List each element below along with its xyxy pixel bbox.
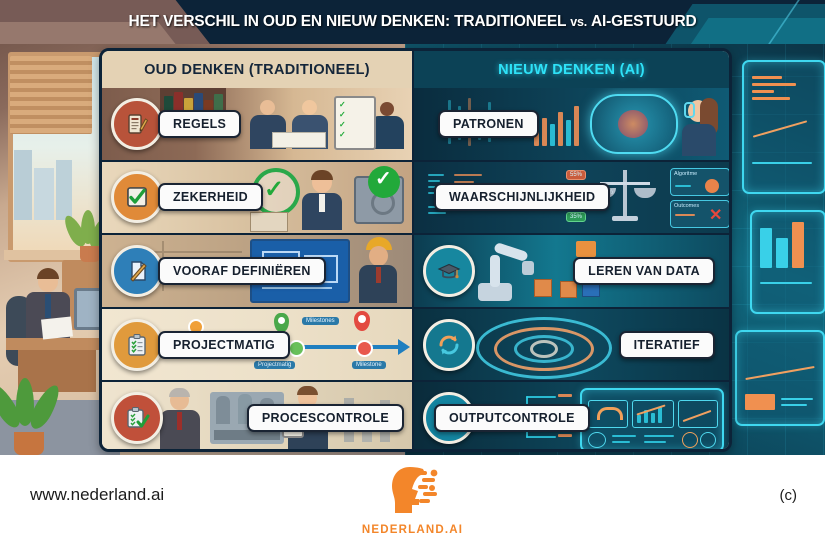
cell-new-iteratief[interactable]: ITERATIEF [414, 309, 729, 381]
table-row: ✓ ✓ ✓ ✓ REGELS [102, 88, 729, 160]
analytics-dashboard [580, 388, 724, 452]
nederland-ai-logo: NEDERLAND.AI [333, 463, 493, 536]
row-label-old-3[interactable]: VOORAF DEFINIËREN [158, 257, 326, 285]
page-title-main: HET VERSCHIL IN OUD EN NIEUW DENKEN: TRA… [129, 13, 567, 31]
green-check-badge: ✓ [368, 166, 400, 198]
tag-milestone: Milestone [352, 361, 386, 369]
row-label-old-1[interactable]: REGELS [158, 110, 241, 138]
title-band: HET VERSCHIL IN OUD EN NIEUW DENKEN: TRA… [0, 0, 825, 44]
logo-head-icon [382, 463, 444, 518]
comparison-table: OUD DENKEN (TRADITIONEEL) NIEUW DENKEN (… [99, 48, 732, 452]
table-body: ✓ ✓ ✓ ✓ REGELS [102, 88, 729, 446]
cell-old-zekerheid[interactable]: ✓ ✓ [102, 162, 414, 234]
cell-new-outputcontrole[interactable]: OUTPUTCONTROLE [414, 382, 729, 452]
map-pin-green [274, 313, 289, 332]
logo-wordmark: NEDERLAND.AI [333, 524, 493, 536]
page-title-end: AI-GESTUURD [591, 13, 696, 31]
holo-monitor [735, 330, 825, 426]
column-header-new: NIEUW DENKEN (AI) [414, 51, 729, 88]
row-label-new-2[interactable]: WAARSCHIJNLIJKHEID [434, 183, 610, 211]
table-row: PROCESCONTROLE [102, 380, 729, 452]
table-row: ✓ ✓ [102, 160, 729, 234]
graduation-cap-icon [423, 245, 475, 297]
row-label-new-1[interactable]: PATRONEN [438, 110, 539, 138]
row-label-old-4[interactable]: PROJECTMATIG [158, 331, 290, 359]
blueprint-ruler-icon [111, 245, 163, 297]
footer: www.nederland.ai NEDERLAND.AI (c) [0, 455, 825, 542]
probability-tag-high: 55% [566, 170, 586, 180]
data-folder [576, 241, 596, 257]
table-header-row: OUD DENKEN (TRADITIONEEL) NIEUW DENKEN (… [102, 51, 729, 88]
engineer [352, 237, 404, 303]
holo-screen [742, 60, 825, 194]
row-label-new-5[interactable]: OUTPUTCONTROLE [434, 404, 590, 432]
thinking-businessman [298, 170, 346, 230]
senior-manager [158, 388, 204, 450]
document-pencil-icon [111, 98, 163, 150]
website-url[interactable]: www.nederland.ai [30, 485, 164, 505]
map-pin-red [354, 311, 370, 331]
bar-chart-glow [534, 102, 584, 146]
column-header-old: OUD DENKEN (TRADITIONEEL) [102, 51, 414, 88]
outcomes-card: Outcomes ✕ [670, 200, 729, 228]
businessman-tie [45, 294, 51, 318]
iterative-spiral [476, 315, 606, 375]
table-row: VOORAF DEFINIËREN [102, 233, 729, 307]
timeline-node [288, 340, 305, 357]
city-building [14, 150, 32, 220]
tag-projectmatig: Projectmatig [254, 361, 295, 369]
copyright-mark: (c) [780, 487, 798, 504]
data-block [534, 279, 552, 297]
meeting-scene: ✓ ✓ ✓ ✓ [230, 92, 410, 160]
probability-tag-low: 35% [566, 212, 586, 222]
page-title: HET VERSCHIL IN OUD EN NIEUW DENKEN: TRA… [0, 0, 825, 44]
checkbox-icon [111, 171, 163, 223]
robot-arm [470, 241, 540, 303]
row-label-old-2[interactable]: ZEKERHEID [158, 183, 263, 211]
cell-new-patronen[interactable]: PATRONEN [414, 88, 729, 160]
cell-old-regels[interactable]: ✓ ✓ ✓ ✓ REGELS [102, 88, 414, 160]
cell-new-leren-van-data[interactable]: LEREN VAN DATA [414, 235, 729, 307]
algoritme-card: Algoritme [670, 168, 729, 196]
data-block [560, 281, 577, 298]
cell-old-procescontrole[interactable]: PROCESCONTROLE [102, 382, 414, 452]
refresh-cycle-icon [423, 319, 475, 371]
row-label-new-3[interactable]: LEREN VAN DATA [573, 257, 715, 285]
ai-woman [676, 96, 720, 156]
binder-stack [250, 212, 288, 232]
businessman-hair [37, 268, 59, 279]
tag-milestones: Milestones [302, 317, 339, 325]
ai-cloud [590, 94, 678, 154]
page-title-connector: vs. [570, 15, 587, 29]
row-label-old-5[interactable]: PROCESCONTROLE [247, 404, 404, 432]
clipboard-icon [111, 319, 163, 371]
infographic-page: HET VERSCHIL IN OUD EN NIEUW DENKEN: TRA… [0, 0, 825, 542]
city-building [34, 168, 54, 220]
window-blinds [10, 56, 92, 134]
row-label-new-4[interactable]: ITERATIEF [619, 331, 715, 359]
clipboard-check-icon [111, 392, 163, 444]
cell-new-waarschijnlijkheid[interactable]: 55% 35% 32% Algoritme [414, 162, 729, 234]
paper-documents [41, 316, 73, 339]
cell-old-projectmatig[interactable]: Milestones Projectmatig Milestone PROJEC… [102, 309, 414, 381]
timeline-node [356, 340, 373, 357]
floor-plant [0, 380, 68, 455]
table-row: Milestones Projectmatig Milestone PROJEC… [102, 307, 729, 381]
holo-screen [750, 210, 825, 314]
timeline-arrow [398, 339, 410, 355]
cell-old-vooraf-definieren[interactable]: VOORAF DEFINIËREN [102, 235, 414, 307]
